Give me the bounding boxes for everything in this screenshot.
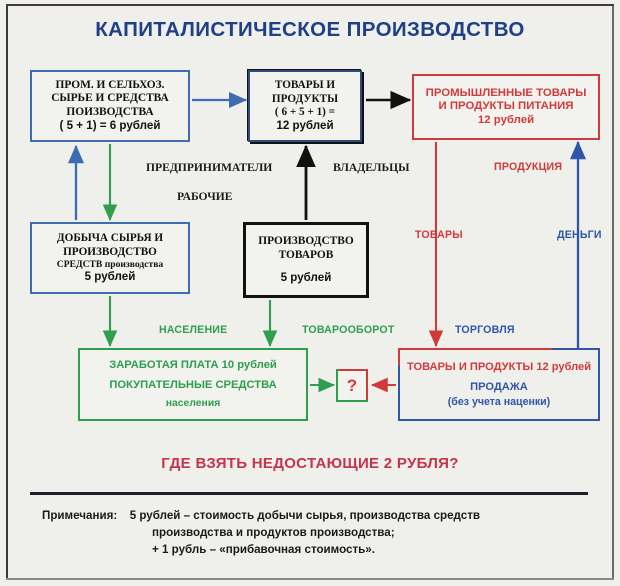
frame-top-border <box>6 4 614 6</box>
question-border-bottom-green <box>336 400 368 402</box>
box-goods-line4: 12 рублей <box>276 119 333 133</box>
question-mark-symbol: ? <box>347 377 357 394</box>
box-wage-line2: ПОКУПАТЕЛЬНЫЕ СРЕДСТВА <box>109 379 276 392</box>
box-sale-line2: ПРОДАЖА <box>470 381 528 394</box>
notes-line1: 5 рублей – стоимость добычи сырья, произ… <box>130 509 480 522</box>
box-extract-line3: СРЕДСТВ производства <box>57 259 163 270</box>
horizontal-divider <box>30 492 588 495</box>
sale-border-left-blue <box>398 366 400 419</box>
box-raw-line3: ПОИЗВОДСТВА <box>66 106 153 119</box>
box-raw-line2: СЫРЬЕ И СРЕДСТВА <box>51 92 169 105</box>
label-entrepreneurs: ПРЕДПРИНИМАТЕЛИ <box>146 161 272 174</box>
sale-border-bottom-blue <box>398 419 600 421</box>
frame-left-border <box>6 6 8 580</box>
question-headline: ГДЕ ВЗЯТЬ НЕДОСТАЮЩИЕ 2 РУБЛЯ? <box>0 455 620 472</box>
box-goods-line3: ( 6 + 5 + 1) = <box>275 106 335 119</box>
box-goods-line1: ТОВАРЫ И <box>275 79 335 92</box>
box-production-line1: ПРОИЗВОДСТВО <box>258 235 354 248</box>
box-wage-line1: ЗАРАБОТАЯ ПЛАТА 10 рублей <box>109 359 277 372</box>
label-owners: ВЛАДЕЛЬЦЫ <box>333 161 410 174</box>
box-sale-line3: (без учета наценки) <box>448 396 550 409</box>
box-raw-line1: ПРОМ. И СЕЛЬХОЗ. <box>55 79 164 92</box>
box-industrial-line2: И ПРОДУКТЫ ПИТАНИЯ <box>439 100 574 113</box>
box-sale[interactable]: ТОВАРЫ И ПРОДУКТЫ 12 рублей ПРОДАЖА (без… <box>398 348 600 421</box>
notes-first-line: Примечания: 5 рублей – стоимость добычи … <box>42 508 602 525</box>
box-production-line2: ТОВАРОВ <box>279 249 334 262</box>
box-production-line3: 5 рублей <box>281 271 332 285</box>
notes-line2: производства и продуктов производства; <box>42 525 602 542</box>
label-population: НАСЕЛЕНИЕ <box>159 324 227 336</box>
box-extract-line4: 5 рублей <box>85 270 136 284</box>
label-trade: ТОРГОВЛЯ <box>455 324 515 336</box>
question-border-left-green <box>336 369 338 402</box>
notes-label: Примечания: <box>42 509 117 522</box>
box-wage-line3: населения <box>166 398 221 410</box>
box-question-node[interactable]: ? <box>336 369 368 402</box>
label-money: ДЕНЬГИ <box>557 229 602 241</box>
box-extract-line2: ПРОИЗВОДСТВО <box>63 246 157 259</box>
label-turnover: ТОВАРООБОРОТ <box>302 324 395 336</box>
sale-border-right-blue <box>598 348 600 421</box>
label-workers: РАБОЧИЕ <box>177 190 233 203</box>
frame-bottom-border <box>6 578 614 580</box>
box-goods-products[interactable]: ТОВАРЫ И ПРОДУКТЫ ( 6 + 5 + 1) = 12 рубл… <box>248 70 362 142</box>
box-goods-line2: ПРОДУКТЫ <box>272 93 338 106</box>
box-extraction[interactable]: ДОБЫЧА СЫРЬЯ И ПРОИЗВОДСТВО СРЕДСТВ прои… <box>30 222 190 294</box>
box-raw-materials[interactable]: ПРОМ. И СЕЛЬХОЗ. СЫРЬЕ И СРЕДСТВА ПОИЗВО… <box>30 70 190 142</box>
box-wages[interactable]: ЗАРАБОТАЯ ПЛАТА 10 рублей ПОКУПАТЕЛЬНЫЕ … <box>78 348 308 421</box>
box-industrial-line3: 12 рублей <box>478 114 534 127</box>
label-production-output: ПРОДУКЦИЯ <box>494 161 562 173</box>
diagram-canvas: КАПИТАЛИСТИЧЕСКОЕ ПРОИЗВОДСТВО <box>0 0 620 586</box>
page-title: КАПИТАЛИСТИЧЕСКОЕ ПРОИЗВОДСТВО <box>0 18 620 42</box>
box-production-of-goods[interactable]: ПРОИЗВОДСТВО ТОВАРОВ 5 рублей <box>243 222 369 298</box>
frame-right-border <box>612 6 614 580</box>
box-extract-line1: ДОБЫЧА СЫРЬЯ И <box>57 232 163 245</box>
sale-border-top-blue <box>552 348 600 350</box>
label-goods: ТОВАРЫ <box>415 229 463 241</box>
notes-block: Примечания: 5 рублей – стоимость добычи … <box>42 508 602 558</box>
box-sale-line1: ТОВАРЫ И ПРОДУКТЫ 12 рублей <box>407 361 591 374</box>
box-raw-line4: ( 5 + 1) = 6 рублей <box>60 119 161 133</box>
box-industrial-goods[interactable]: ПРОМЫШЛЕННЫЕ ТОВАРЫ И ПРОДУКТЫ ПИТАНИЯ 1… <box>412 74 600 140</box>
box-industrial-line1: ПРОМЫШЛЕННЫЕ ТОВАРЫ <box>426 87 587 100</box>
notes-line3: + 1 рубль – «прибавочная стоимость». <box>42 542 602 559</box>
